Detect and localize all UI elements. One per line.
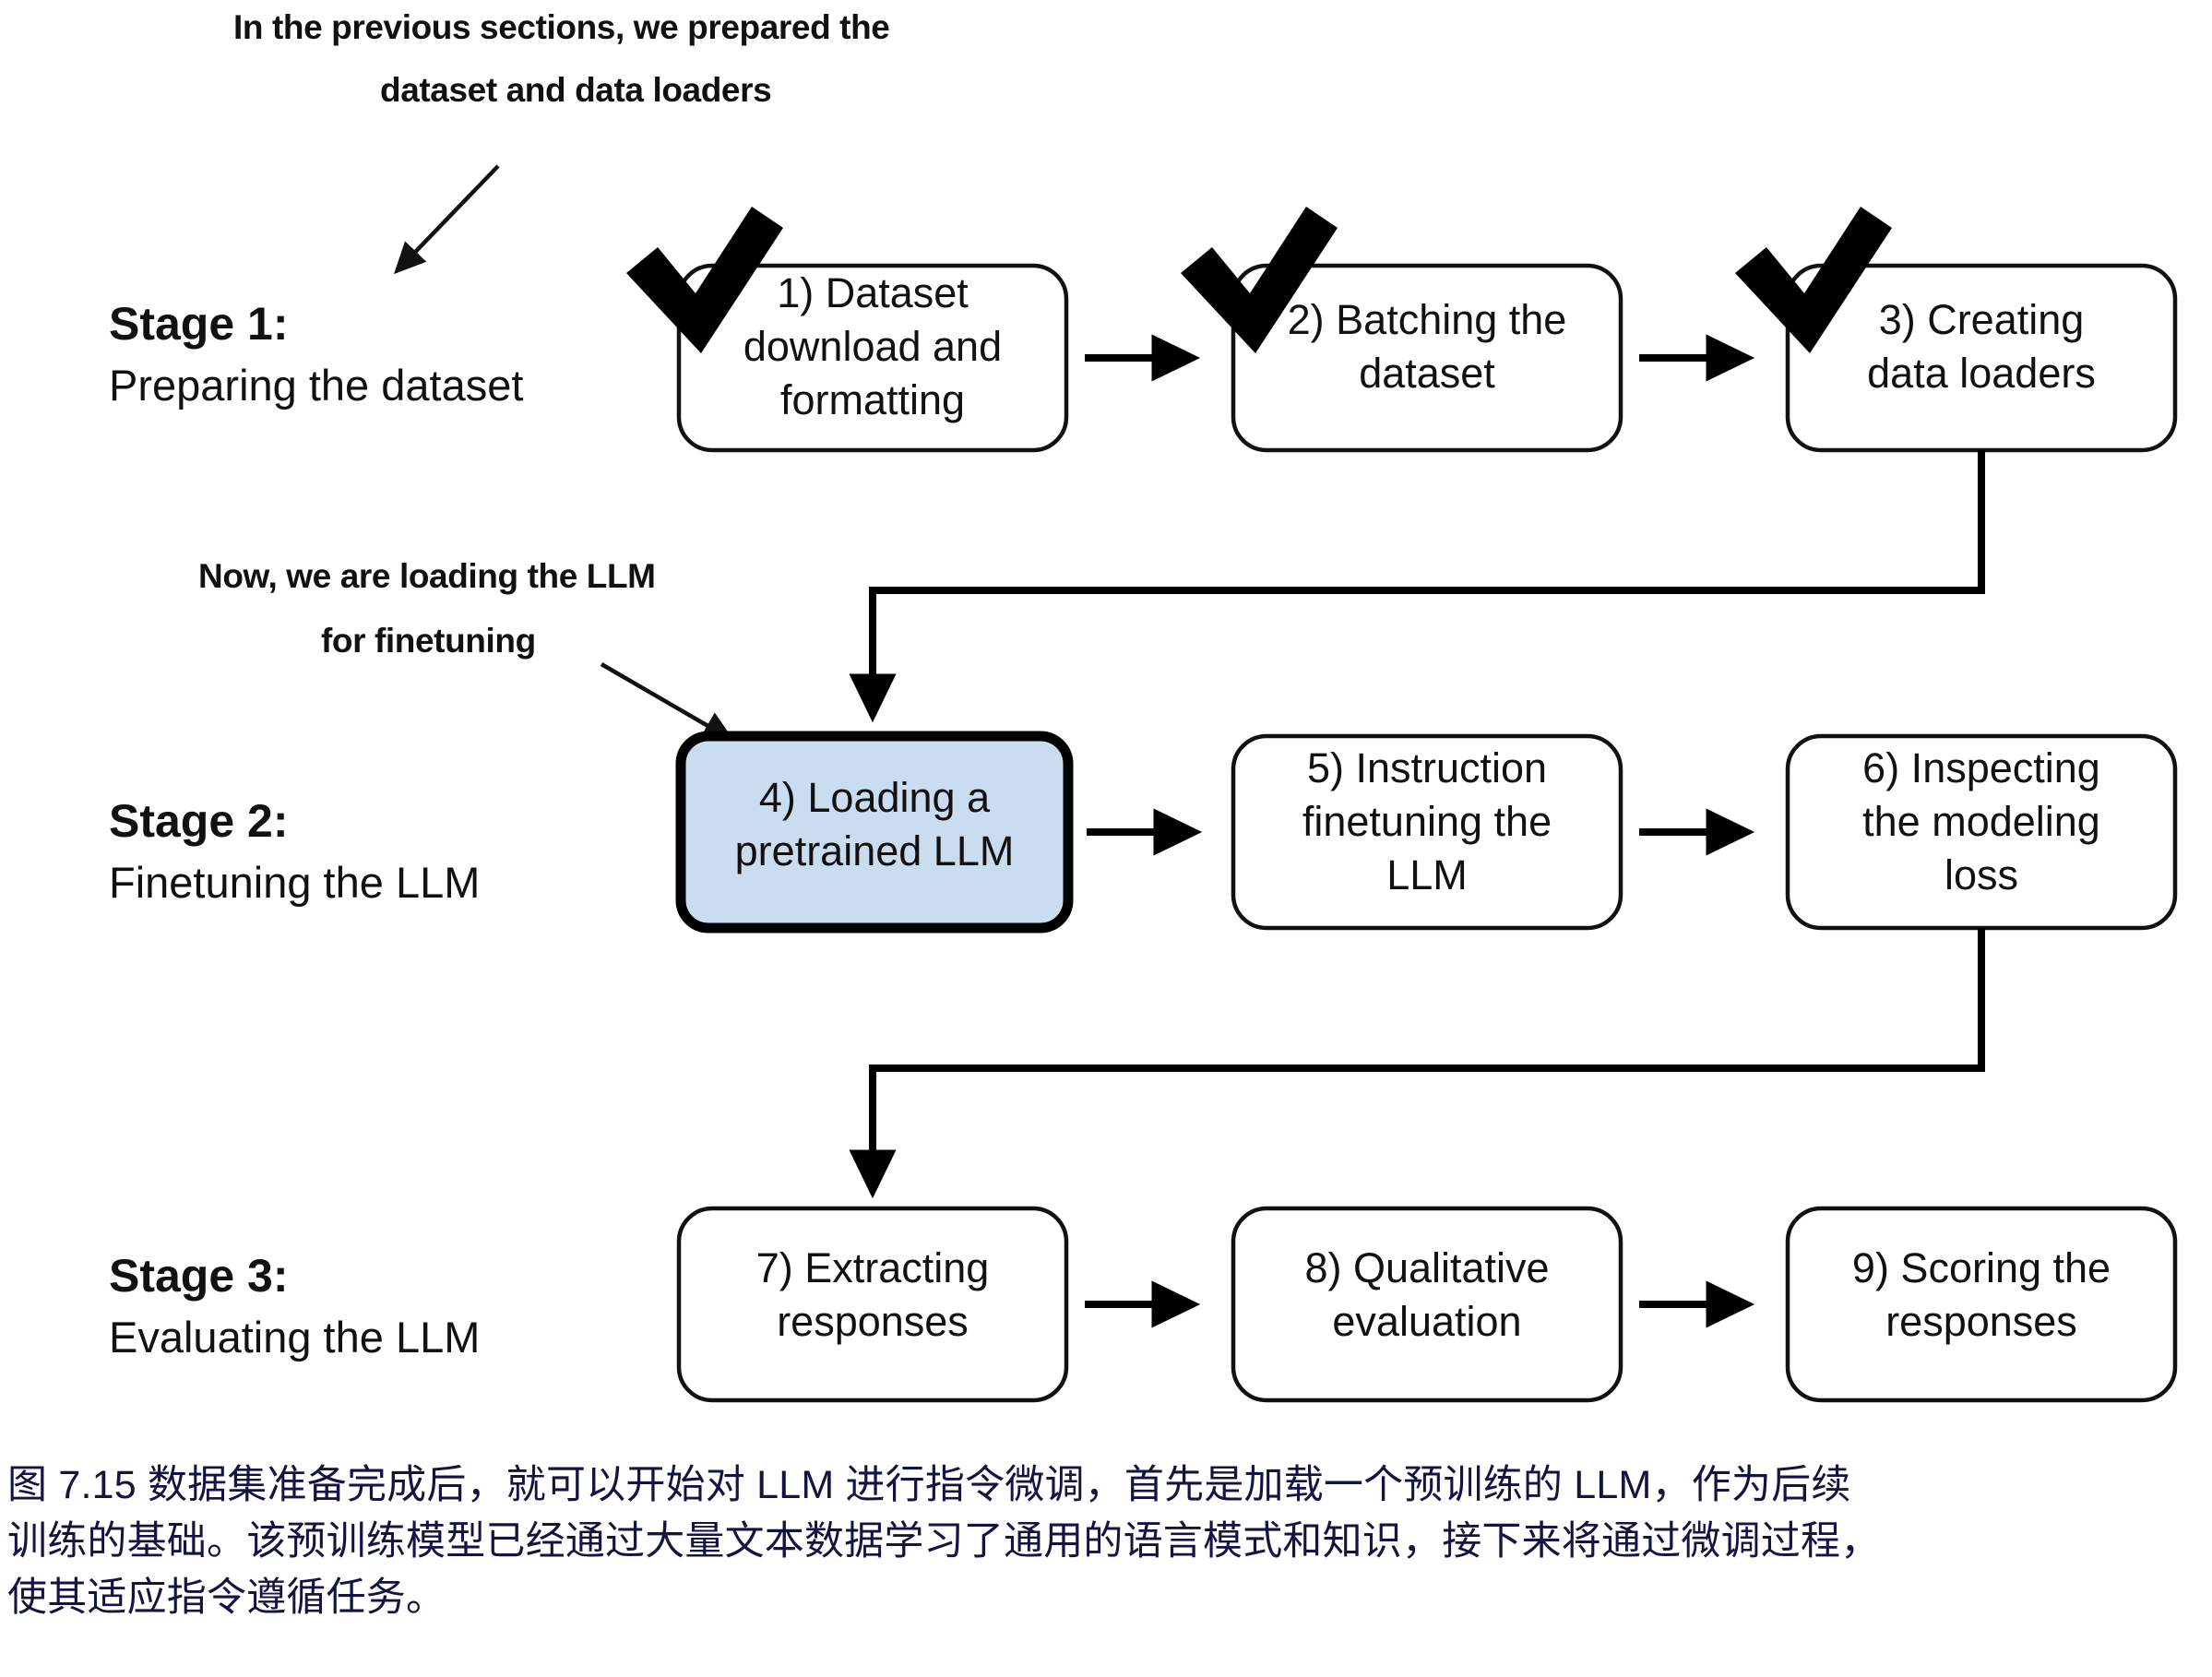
annotation-loading-llm-arrow (601, 664, 729, 738)
connector-stage1-to-stage2 (873, 450, 1981, 712)
flow-step-8-line2: evaluation (1332, 1298, 1521, 1345)
connector-stage2-to-stage3 (873, 928, 1981, 1188)
flow-step-1-line1: 1) Dataset (777, 269, 969, 316)
flow-step-6[interactable]: 6) Inspecting the modeling loss (1788, 736, 2175, 928)
flow-step-7-line2: responses (777, 1298, 969, 1345)
flow-step-8[interactable]: 8) Qualitative evaluation (1233, 1208, 1621, 1400)
stage-1-title: Stage 1: (109, 298, 289, 350)
annotation-previous-sections-arrow (398, 166, 498, 269)
flow-step-5-line1: 5) Instruction (1307, 744, 1547, 791)
annotation-loading-llm-line1: Now, we are loading the LLM (198, 557, 656, 595)
flow-step-7[interactable]: 7) Extracting responses (679, 1208, 1066, 1400)
figure-caption-line-3: 使其适应指令遵循任务。 (7, 1570, 2207, 1626)
figure-caption-line-2: 训练的基础。该预训练模型已经通过大量文本数据学习了通用的语言模式和知识，接下来将… (7, 1514, 2207, 1570)
flow-step-3[interactable]: 3) Creating data loaders (1735, 207, 2175, 450)
stage-1-subtitle: Preparing the dataset (109, 361, 523, 410)
flow-step-6-line2: the modeling (1862, 798, 2100, 845)
stage-2-title: Stage 2: (109, 795, 289, 847)
stage-3-subtitle: Evaluating the LLM (109, 1313, 480, 1362)
flow-step-9-line1: 9) Scoring the (1852, 1244, 2111, 1291)
flow-step-7-line1: 7) Extracting (756, 1244, 990, 1291)
flow-step-5-line2: finetuning the (1302, 798, 1552, 845)
flow-step-3-line1: 3) Creating (1879, 296, 2085, 343)
flow-step-2-line2: dataset (1359, 350, 1495, 397)
flow-step-6-line3: loss (1944, 851, 2018, 898)
flow-step-2-line1: 2) Batching the (1288, 296, 1567, 343)
flow-step-4[interactable]: 4) Loading a pretrained LLM (681, 736, 1068, 928)
flow-step-1-line3: formatting (780, 376, 965, 423)
flow-step-1-line2: download and (743, 323, 1002, 370)
flow-step-4-line2: pretrained LLM (735, 827, 1015, 874)
flow-step-6-line1: 6) Inspecting (1862, 744, 2100, 791)
figure-page: In the previous sections, we prepared th… (0, 0, 2212, 1677)
workflow-diagram: In the previous sections, we prepared th… (0, 0, 2212, 1439)
annotation-previous-sections-line2: dataset and data loaders (380, 71, 771, 109)
flow-step-5[interactable]: 5) Instruction finetuning the LLM (1233, 736, 1621, 928)
flow-step-3-line2: data loaders (1867, 350, 2096, 397)
flow-step-9[interactable]: 9) Scoring the responses (1788, 1208, 2175, 1400)
annotation-previous-sections-line1: In the previous sections, we prepared th… (233, 8, 889, 46)
figure-caption-line-1: 图 7.15 数据集准备完成后，就可以开始对 LLM 进行指令微调，首先是加载一… (7, 1457, 2207, 1514)
flow-step-8-line1: 8) Qualitative (1304, 1244, 1549, 1291)
stage-3-title: Stage 3: (109, 1250, 289, 1302)
annotation-loading-llm-line2: for finetuning (321, 622, 536, 660)
flow-step-5-line3: LLM (1386, 851, 1468, 898)
flow-step-9-line2: responses (1885, 1298, 2077, 1345)
figure-caption: 图 7.15 数据集准备完成后，就可以开始对 LLM 进行指令微调，首先是加载一… (7, 1457, 2207, 1626)
stage-2-subtitle: Finetuning the LLM (109, 858, 480, 907)
flow-step-4-line1: 4) Loading a (759, 774, 991, 821)
flow-step-2[interactable]: 2) Batching the dataset (1181, 207, 1621, 450)
flow-step-1[interactable]: 1) Dataset download and formatting (626, 207, 1066, 450)
